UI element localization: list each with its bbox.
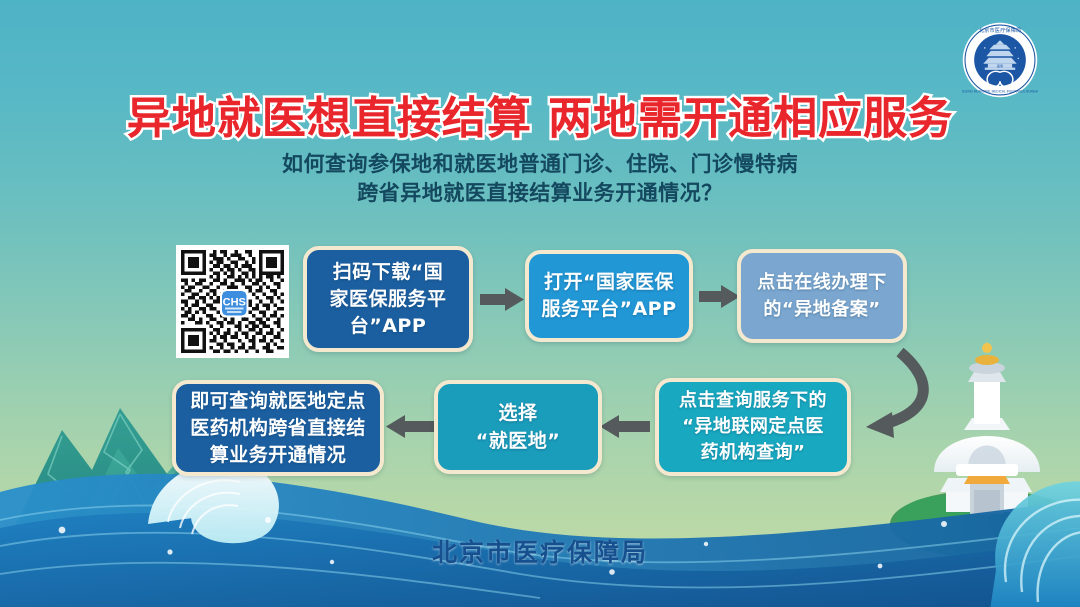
flow-step-3[interactable]: 点击在线办理下 的“异地备案” [737, 249, 907, 343]
flow-step-1[interactable]: 扫码下载“国 家医保服务平 台”APP [303, 246, 473, 352]
logo-en-text: BEIJING MUNICIPAL MEDICAL INSURANCE BURE… [962, 90, 1038, 94]
flow-step-2[interactable]: 打开“国家医保 服务平台”APP [525, 250, 693, 342]
flow-step-1-text: 扫码下载“国 家医保服务平 台”APP [321, 259, 454, 340]
beijing-medical-insurance-bureau-emblem: 北京市医疗保障局 BEIJING MUNICIPAL MEDICAL INSUR… [962, 22, 1038, 98]
flow-step-5-text: 选择 “就医地” [468, 399, 568, 455]
qr-code[interactable]: CHS [176, 245, 289, 358]
flow-step-2-text: 打开“国家医保 服务平台”APP [533, 269, 684, 323]
arrow-step1-to-step2 [480, 288, 524, 311]
flow-step-4[interactable]: 点击查询服务下的 “异地联网定点医 药机构查询” [655, 378, 851, 476]
flow-step-6[interactable]: 即可查询就医地定点 医药机构跨省直接结 算业务开通情况 [172, 380, 384, 476]
arrow-step5-to-step6 [386, 415, 434, 438]
page-subtitle: 如何查询参保地和就医地普通门诊、住院、门诊慢特病 跨省异地就医直接结算业务开通情… [0, 150, 1080, 208]
arrow-step3-to-step4 [866, 352, 923, 438]
qr-code-matrix: CHS [181, 250, 284, 353]
subtitle-line-2: 跨省异地就医直接结算业务开通情况？ [0, 179, 1080, 208]
subtitle-line-1: 如何查询参保地和就医地普通门诊、住院、门诊慢特病 [0, 150, 1080, 179]
flow-step-5[interactable]: 选择 “就医地” [434, 380, 602, 474]
arrow-step2-to-step3 [699, 285, 740, 308]
arrow-step4-to-step5 [600, 415, 650, 438]
page-title: 异地就医想直接结算 两地需开通相应服务 [0, 82, 1080, 146]
flow-step-6-text: 即可查询就医地定点 医药机构跨省直接结 算业务开通情况 [182, 388, 374, 469]
footer-organization: 北京市医疗保障局 [0, 533, 1080, 569]
qr-center-label: CHS [223, 296, 246, 308]
flow-step-4-text: 点击查询服务下的 “异地联网定点医 药机构查询” [671, 388, 835, 466]
infographic-poster: 北京市医疗保障局 BEIJING MUNICIPAL MEDICAL INSUR… [0, 0, 1080, 607]
svg-text:医保: 医保 [997, 63, 1003, 68]
flow-step-3-text: 点击在线办理下 的“异地备案” [749, 269, 895, 323]
